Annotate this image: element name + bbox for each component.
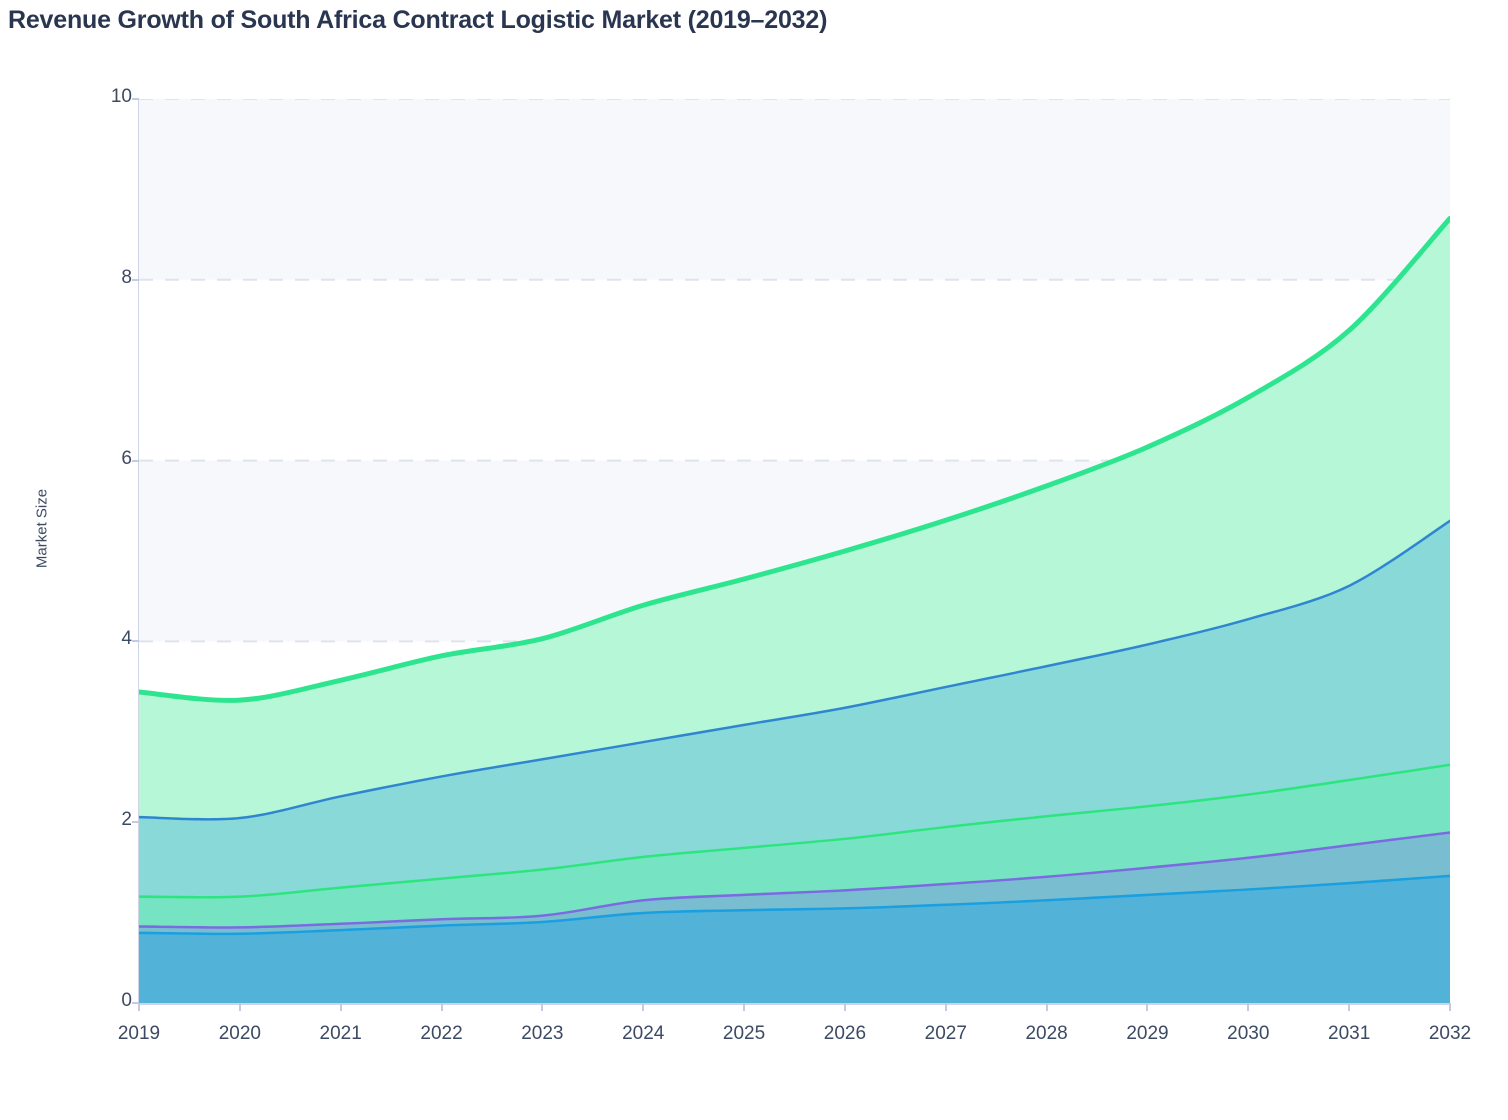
x-axis-tick-mark — [239, 1003, 241, 1011]
x-axis-tick-mark — [844, 1003, 846, 1011]
x-axis-tick-mark — [340, 1003, 342, 1011]
x-axis-tick-mark — [1247, 1003, 1249, 1011]
plot-area — [139, 99, 1450, 1003]
x-axis-tick-mark — [1449, 1003, 1451, 1011]
stacked-area-chart — [139, 99, 1450, 1003]
x-axis-tick-mark — [1046, 1003, 1048, 1011]
x-axis-tick-mark — [642, 1003, 644, 1011]
x-axis-tick-mark — [743, 1003, 745, 1011]
x-axis-tick-mark — [1146, 1003, 1148, 1011]
x-axis-tick-mark — [138, 1003, 140, 1011]
x-axis-tick-mark — [1348, 1003, 1350, 1011]
x-axis-tick-label: 2032 — [1390, 1023, 1508, 1045]
plot-band — [139, 99, 1450, 280]
x-axis-tick-mark — [541, 1003, 543, 1011]
x-axis-tick-mark — [441, 1003, 443, 1011]
x-axis-tick-mark — [945, 1003, 947, 1011]
chart-page: Revenue Growth of South Africa Contract … — [0, 0, 1508, 1120]
